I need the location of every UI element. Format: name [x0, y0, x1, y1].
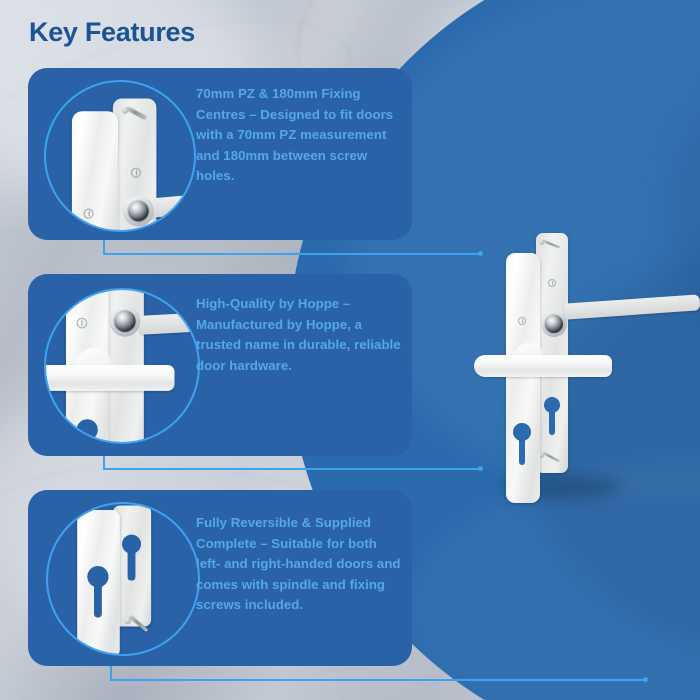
page-title: Key Features: [29, 17, 195, 48]
product-image-door-handle-set: [480, 225, 700, 515]
feature-card-fixing-centres[interactable]: 70mm PZ & 180mm Fixing Centres – Designe…: [28, 68, 412, 240]
feature-text-fully-reversible: Fully Reversible & Supplied Complete – S…: [196, 513, 401, 616]
feature-text-fixing-centres: 70mm PZ & 180mm Fixing Centres – Designe…: [196, 84, 401, 187]
feature-image-hoppe-quality: [44, 288, 200, 444]
feature-card-fully-reversible[interactable]: Fully Reversible & Supplied Complete – S…: [28, 490, 412, 666]
feature-infographic: Key Features: [0, 0, 700, 700]
keyhole-icon: [77, 419, 98, 444]
feature-card-hoppe-quality[interactable]: High-Quality by Hoppe – Manufactured by …: [28, 274, 412, 456]
lever-handle-front: [474, 355, 612, 377]
feature-text-hoppe-quality: High-Quality by Hoppe – Manufactured by …: [196, 294, 401, 376]
feature-image-fixing-centres: [44, 80, 196, 232]
lever-handle-rear: [564, 294, 700, 319]
feature-image-fully-reversible: [46, 502, 200, 656]
